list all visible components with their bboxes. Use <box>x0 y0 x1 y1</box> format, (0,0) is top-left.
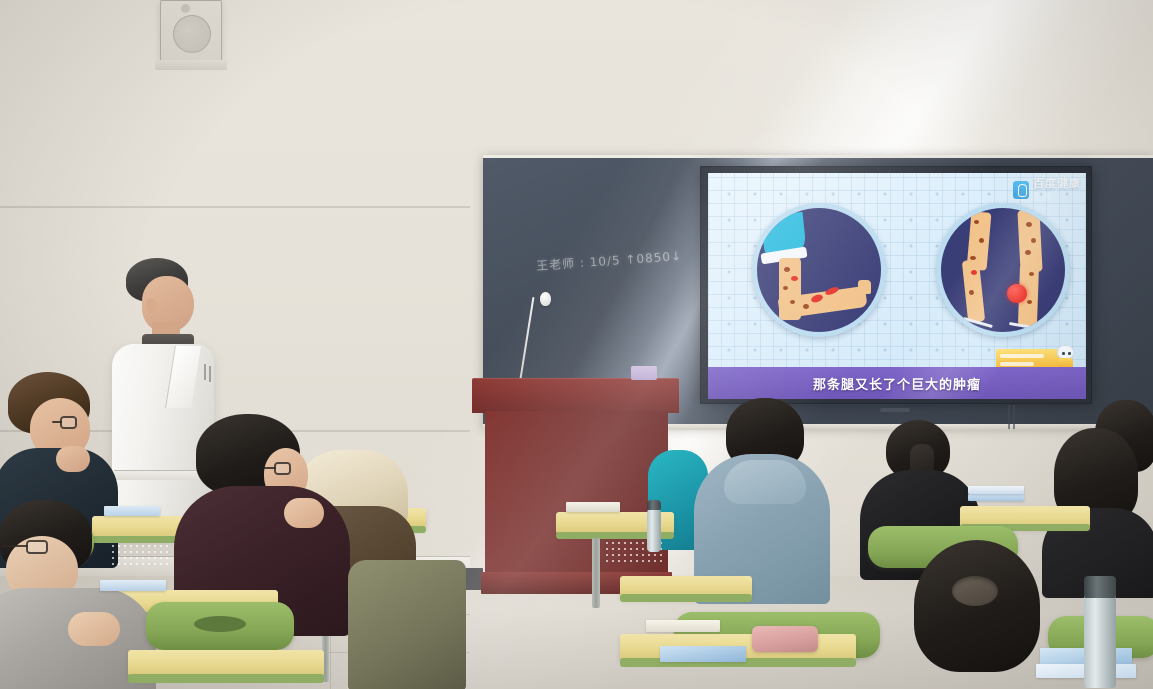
lesion-spot <box>971 270 977 275</box>
lesion-spot <box>970 256 976 260</box>
student-hand <box>68 612 120 646</box>
lesion-spot <box>1026 222 1032 227</box>
podium-remote-control[interactable] <box>631 366 657 380</box>
textbook <box>968 486 1024 494</box>
thermos-cap <box>647 500 661 510</box>
presenter-pen <box>204 364 206 380</box>
speaker-cone-icon <box>173 15 211 53</box>
lesion-spot <box>784 267 790 272</box>
textbook <box>660 646 746 662</box>
screen-watermark: 百度健康 医典 <box>1013 178 1081 203</box>
subtitle-bar: 那条腿又长了个巨大的肿瘤 <box>708 367 1086 399</box>
lesion-spot <box>974 220 979 224</box>
illustration-panel-legs <box>936 203 1070 337</box>
screen-cable <box>1013 405 1015 429</box>
student-foreground-glasses <box>0 500 130 689</box>
textbook <box>968 494 1024 501</box>
desk-front-left <box>128 650 324 676</box>
lesion-spot <box>803 304 809 309</box>
mascot-eye <box>1062 352 1065 355</box>
student-gray-hoodie <box>700 398 822 598</box>
projection-screen[interactable]: 百度健康 医典 那条腿又 <box>708 173 1086 399</box>
lesion-spot <box>1031 238 1036 243</box>
thermos-bottle <box>647 508 661 552</box>
illustration-panel-arm <box>752 203 886 337</box>
student-hair <box>914 540 1040 672</box>
desk-edge <box>128 674 324 683</box>
student-hand <box>284 498 324 528</box>
presenter-ear <box>146 298 157 313</box>
screen-cable <box>1008 405 1010 429</box>
microphone-head-icon <box>540 292 551 306</box>
chair-handle-hole <box>194 616 246 632</box>
desk-leg <box>592 538 600 608</box>
banner-line <box>1000 362 1034 366</box>
speaker-tweeter-icon <box>181 4 190 13</box>
screen-mount-bracket <box>880 408 910 412</box>
student-dark-jacket-glasses <box>180 414 330 614</box>
watermark-brand: 百度健康 <box>1033 178 1081 190</box>
thermos-cap <box>1084 576 1116 598</box>
notebook <box>566 502 620 512</box>
watermark-sub: 医典 <box>1033 190 1081 203</box>
notebook <box>646 620 720 632</box>
classroom-photo: 王老师 : 10/5 ↑0850↓ <box>0 0 1153 689</box>
subtitle-text: 那条腿又长了个巨大的肿瘤 <box>813 374 981 393</box>
podium-top <box>472 378 679 413</box>
banner-line <box>1000 354 1044 358</box>
wall-speaker <box>160 0 222 62</box>
wall-seam-upper <box>0 206 470 208</box>
student-hand <box>56 446 90 472</box>
student-hood <box>724 460 806 504</box>
lesion-spot <box>969 290 974 295</box>
pencil-case <box>752 626 818 652</box>
lesion-spot <box>791 276 798 281</box>
lesion-spot <box>1027 300 1032 304</box>
hair-tie <box>952 576 998 606</box>
student-green-pants <box>348 560 478 689</box>
lesion-spot <box>790 300 795 304</box>
eyeglasses-lens <box>26 540 48 554</box>
lesion-spot <box>783 286 788 290</box>
presenter-pen <box>209 366 211 382</box>
student-legs <box>348 560 466 689</box>
desk-edge <box>620 594 752 602</box>
eyeglasses-temple <box>2 545 28 547</box>
mascot-head <box>1057 345 1074 359</box>
chair-left-row2 <box>146 602 294 650</box>
eyeglasses-temple <box>264 467 276 469</box>
textbook <box>100 580 166 591</box>
lesion-spot <box>979 238 984 243</box>
lesion-spot <box>1029 272 1034 276</box>
tumor-mass <box>1007 284 1027 303</box>
thermos-bottle-foreground <box>1084 588 1116 688</box>
projection-screen-frame: 百度健康 医典 那条腿又 <box>700 166 1092 404</box>
eyeglasses-lens <box>60 416 77 429</box>
watermark-shield-icon <box>1013 181 1029 199</box>
lesion-spot <box>1025 250 1031 255</box>
eyeglasses-lens <box>274 462 291 475</box>
speaker-mount-bracket <box>155 60 227 70</box>
hand <box>858 280 871 294</box>
mascot-eye <box>1068 352 1071 355</box>
eyeglasses-temple <box>52 421 62 423</box>
